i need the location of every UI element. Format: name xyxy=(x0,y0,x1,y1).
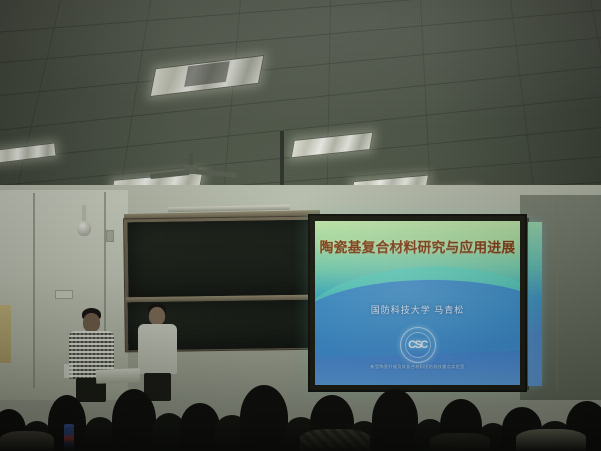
laboratory-emblem-text: CSC xyxy=(405,332,431,358)
presentation-slide: 陶瓷基复合材料研究与应用进展 国防科技大学 马青松 CSC 新型陶瓷纤维及其复合… xyxy=(315,221,520,385)
projection-spill-on-wall xyxy=(528,222,542,386)
ceiling xyxy=(0,0,601,215)
drinking-glass xyxy=(64,364,73,378)
projection-screen: 陶瓷基复合材料研究与应用进展 国防科技大学 马青松 CSC 新型陶瓷纤维及其复合… xyxy=(308,214,527,392)
wall-notice xyxy=(55,290,73,299)
audience-foreground-shadow xyxy=(0,427,601,451)
blackboard xyxy=(127,220,316,298)
lecture-hall-photo: 陶瓷基复合材料研究与应用进展 国防科技大学 马青松 CSC 新型陶瓷纤维及其复合… xyxy=(0,0,601,451)
slide-title: 陶瓷基复合材料研究与应用进展 xyxy=(315,236,520,256)
slide-subtitle: 国防科技大学 马青松 xyxy=(315,303,520,316)
presenter-left-head xyxy=(83,313,100,332)
laboratory-emblem-icon: CSC xyxy=(400,327,436,363)
presenter-right-head xyxy=(149,307,165,325)
presenter-in-checked-shirt xyxy=(66,308,116,400)
wall-seam-a xyxy=(33,193,35,388)
wall-poster xyxy=(0,305,11,363)
wall-sign-right-of-camera xyxy=(106,230,114,242)
front-desk xyxy=(96,368,140,384)
projector-mount-pole xyxy=(280,131,284,193)
presenter-in-grey-shirt xyxy=(136,303,180,401)
presenter-right-torso xyxy=(138,324,177,374)
security-camera xyxy=(77,221,91,236)
slide-footer: 新型陶瓷纤维及其复合材料国防科技重点实验室 xyxy=(315,364,520,370)
wall-seam-c xyxy=(556,200,558,390)
